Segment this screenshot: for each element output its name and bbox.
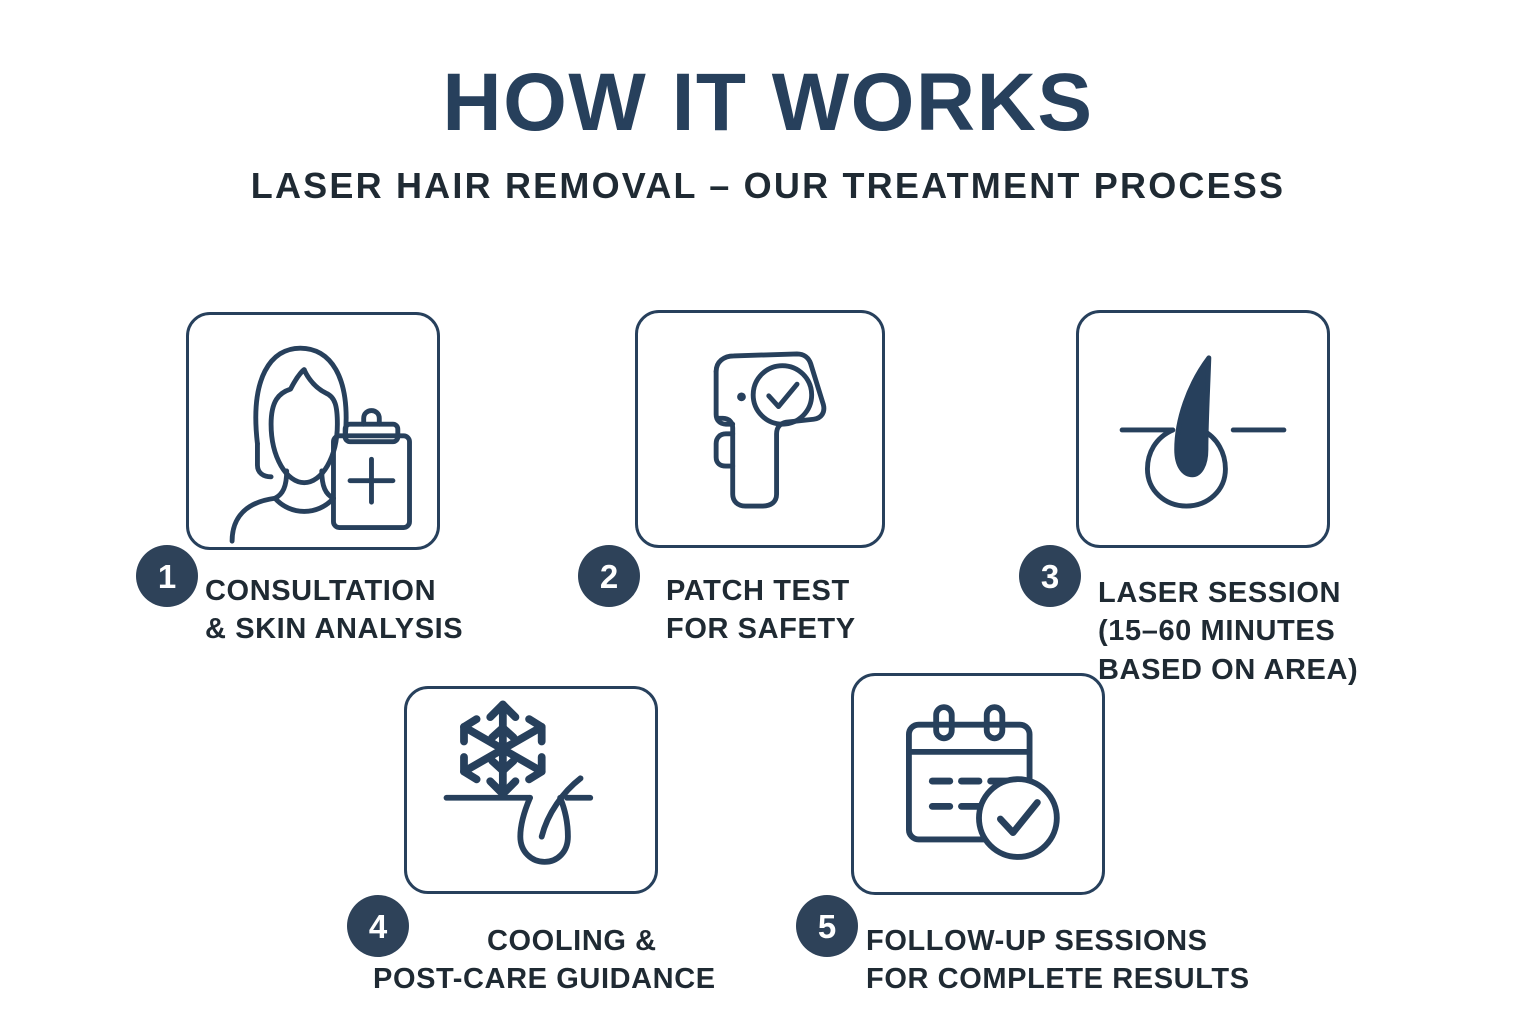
hair-follicle-icon	[1079, 313, 1327, 545]
step-1-caption-line-1: CONSULTATION	[205, 572, 463, 610]
snowflake-follicle-cooling-icon	[407, 689, 655, 891]
step-5-caption-line-2: FOR COMPLETE RESULTS	[866, 960, 1250, 998]
laser-thermometer-gun-check-icon	[638, 313, 882, 545]
step-3-number-badge: 3	[1019, 545, 1081, 607]
infographic-page: HOW IT WORKS LASER HAIR REMOVAL – OUR TR…	[0, 0, 1536, 1024]
woman-with-clipboard-icon	[189, 315, 437, 547]
step-5-caption-line-1: FOLLOW-UP SESSIONS	[866, 922, 1250, 960]
step-3-caption: LASER SESSION (15–60 MINUTES BASED ON AR…	[1098, 574, 1358, 689]
step-5-icon-card	[851, 673, 1105, 895]
step-2-number-badge: 2	[578, 545, 640, 607]
step-2-icon-card	[635, 310, 885, 548]
step-4-caption-line-1: COOLING &	[428, 922, 716, 960]
step-1-icon-card	[186, 312, 440, 550]
step-4-caption: COOLING & POST-CARE GUIDANCE	[428, 922, 716, 999]
step-5-caption: FOLLOW-UP SESSIONS FOR COMPLETE RESULTS	[866, 922, 1250, 999]
header: HOW IT WORKS LASER HAIR REMOVAL – OUR TR…	[0, 62, 1536, 204]
page-title: HOW IT WORKS	[0, 62, 1536, 144]
step-2-caption-line-2: FOR SAFETY	[666, 610, 856, 648]
step-2-caption: PATCH TEST FOR SAFETY	[666, 572, 856, 649]
step-4-number-badge: 4	[347, 895, 409, 957]
step-5-number-badge: 5	[796, 895, 858, 957]
step-3-caption-line-1: LASER SESSION	[1098, 574, 1358, 612]
step-2-caption-line-1: PATCH TEST	[666, 572, 856, 610]
step-1-caption: CONSULTATION & SKIN ANALYSIS	[205, 572, 463, 649]
page-subtitle: LASER HAIR REMOVAL – OUR TREATMENT PROCE…	[0, 168, 1536, 204]
step-1-caption-line-2: & SKIN ANALYSIS	[205, 610, 463, 648]
step-3-caption-line-3: BASED ON AREA)	[1098, 651, 1358, 689]
step-4-icon-card	[404, 686, 658, 894]
step-3-caption-line-2: (15–60 MINUTES	[1098, 612, 1358, 650]
step-1-number-badge: 1	[136, 545, 198, 607]
step-4-caption-line-2: POST-CARE GUIDANCE	[373, 960, 716, 998]
step-3-icon-card	[1076, 310, 1330, 548]
calendar-check-icon	[854, 676, 1102, 892]
